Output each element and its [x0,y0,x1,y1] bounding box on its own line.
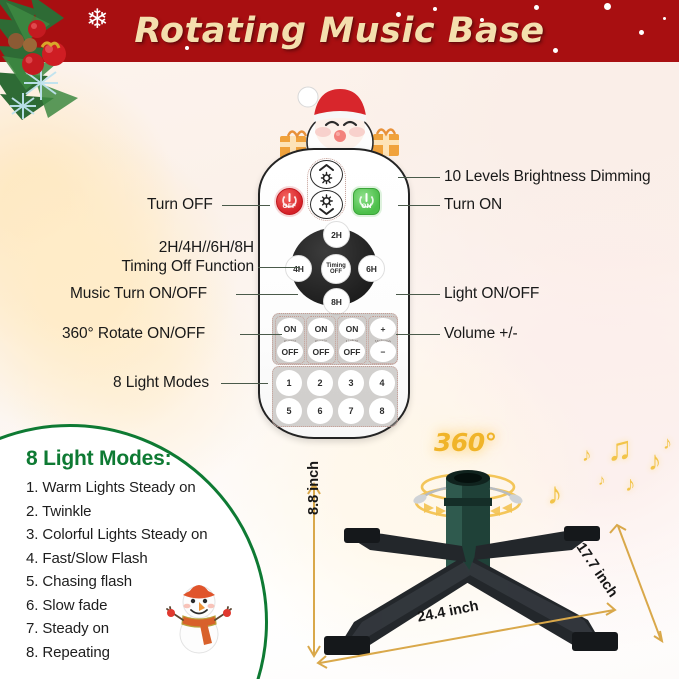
timer-2h-button[interactable]: 2H [323,221,350,248]
power-on-button[interactable]: ON [353,188,380,215]
power-on-label: ON [354,203,379,210]
leader-line-timing [258,267,300,268]
leader-line-light-onoff [396,294,440,295]
callout-timing-line2: Timing Off Function [122,258,254,275]
light-mode-item: 4. Fast/Slow Flash [26,547,268,571]
callout-turn-off: Turn OFF [147,196,213,214]
lights-on-button[interactable]: ON [339,318,365,339]
callout-dimming: 10 Levels Brightness Dimming [444,168,651,186]
mode-button-5[interactable]: 5 [276,398,302,424]
brightness-down-icon[interactable] [310,190,343,219]
mode-button-3[interactable]: 3 [338,370,364,396]
motor-off-button[interactable]: OFF [277,341,303,362]
timer-8h-button[interactable]: 8H [323,288,350,315]
light-mode-item: 3. Colorful Lights Steady on [26,523,268,547]
leader-line-turn-on [398,205,440,206]
leader-line-music [236,294,298,295]
music-on-button[interactable]: ON [308,318,334,339]
mode-button-6[interactable]: 6 [307,398,333,424]
timer-off-button[interactable]: Timing OFF [321,254,351,284]
mode-button-8[interactable]: 8 [369,398,395,424]
leader-line-light-modes [221,383,268,384]
brightness-dimming-group [307,158,346,221]
music-note-icon: ♪ [598,473,606,488]
toggle-panel: ON motor OFF ON music OFF ON Lights OFF … [272,313,398,365]
tree-stand-icon [296,440,679,679]
dimension-height: 8.8 inch [306,461,322,515]
music-note-icon: ♫ [607,432,633,466]
timer-pad: 2H 4H Timing OFF 6H 8H [291,228,377,306]
power-off-button[interactable]: OFF [276,188,303,215]
light-mode-keypad: 1 2 3 4 5 6 7 8 [272,366,398,427]
light-modes-title: 8 Light Modes: [26,447,268,471]
callout-volume: Volume +/- [444,325,518,343]
leader-line-turn-off [222,205,270,206]
mode-button-4[interactable]: 4 [369,370,395,396]
light-mode-item: 2. Twinkle [26,500,268,524]
toggle-group-music: ON music OFF [306,316,336,364]
rotation-label: 360° [434,428,497,457]
christmas-wreath-icon [0,0,124,122]
light-mode-item: 1. Warm Lights Steady on [26,476,268,500]
motor-on-button[interactable]: ON [277,318,303,339]
power-off-icon [277,189,302,214]
mode-button-7[interactable]: 7 [338,398,364,424]
callout-light-modes: 8 Light Modes [113,374,209,392]
leader-line-dimming [398,177,440,178]
callout-rotate: 360° Rotate ON/OFF [62,325,205,343]
timer-off-label-line2: OFF [330,269,342,275]
power-on-icon [354,189,379,214]
callout-timing: 2H/4H//6H/8H Timing Off Function [58,238,254,276]
snowman-icon [163,568,235,654]
infographic-root: ❄ Rotating Music Base [0,0,679,679]
music-note-icon: ♪ [582,446,592,465]
mode-button-2[interactable]: 2 [307,370,333,396]
toggle-group-lights: ON Lights OFF [337,316,367,364]
music-note-icon: ♪ [663,434,672,452]
power-off-label: OFF [277,203,302,210]
music-note-icon: ♪ [625,474,636,495]
timer-4h-button[interactable]: 4H [285,255,312,282]
toggle-group-volume: + Volume − [368,316,398,364]
mode-button-1[interactable]: 1 [276,370,302,396]
callout-timing-line1: 2H/4H//6H/8H [159,239,254,256]
volume-up-button[interactable]: + [370,318,396,339]
timer-6h-button[interactable]: 6H [358,255,385,282]
brightness-up-icon[interactable] [310,160,343,189]
callout-turn-on: Turn ON [444,196,502,214]
music-note-icon: ♪ [547,478,563,509]
leader-line-volume [396,334,440,335]
callout-light-onoff: Light ON/OFF [444,285,539,303]
callout-music: Music Turn ON/OFF [70,285,207,303]
lights-off-button[interactable]: OFF [339,341,365,362]
music-off-button[interactable]: OFF [308,341,334,362]
toggle-group-motor: ON motor OFF [275,316,305,364]
music-note-icon: ♪ [648,448,662,475]
volume-down-button[interactable]: − [370,341,396,362]
leader-line-rotate [240,334,282,335]
